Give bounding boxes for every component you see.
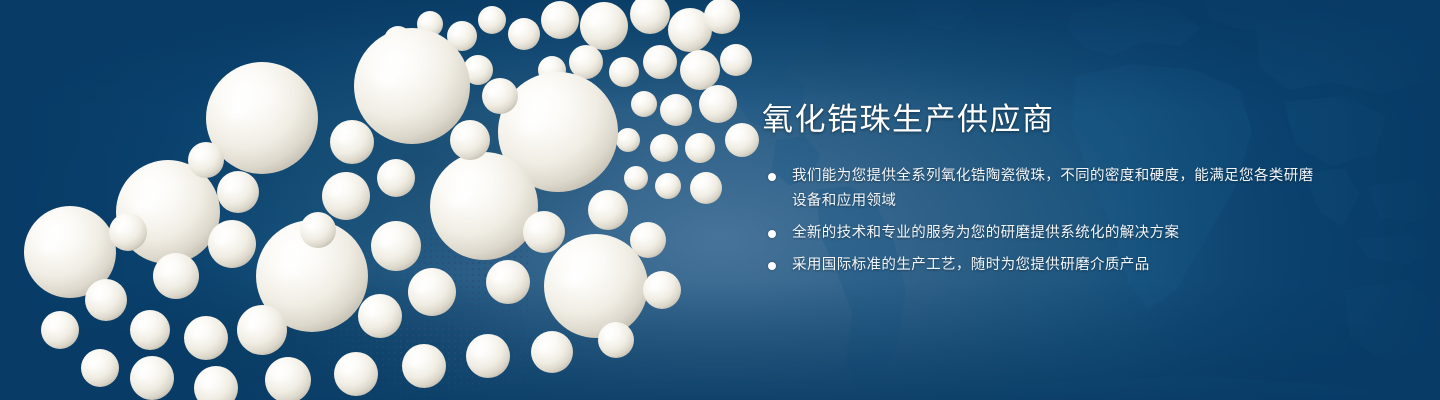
- feature-list: 我们能为您提供全系列氧化锆陶瓷微珠，不同的密度和硬度，能满足您各类研磨设备和应用…: [762, 164, 1322, 278]
- bullet-dot-icon: [768, 230, 776, 238]
- banner-copy: 氧化锆珠生产供应商 我们能为您提供全系列氧化锆陶瓷微珠，不同的密度和硬度，能满足…: [762, 100, 1322, 278]
- bullet-dot-icon: [768, 262, 776, 270]
- list-item-text: 我们能为您提供全系列氧化锆陶瓷微珠，不同的密度和硬度，能满足您各类研磨设备和应用…: [792, 168, 1314, 209]
- hero-banner: 氧化锆珠生产供应商 我们能为您提供全系列氧化锆陶瓷微珠，不同的密度和硬度，能满足…: [0, 0, 1440, 400]
- page-title: 氧化锆珠生产供应商: [762, 100, 1322, 140]
- list-item: 我们能为您提供全系列氧化锆陶瓷微珠，不同的密度和硬度，能满足您各类研磨设备和应用…: [762, 164, 1322, 214]
- list-item: 采用国际标准的生产工艺，随时为您提供研磨介质产品: [762, 253, 1322, 278]
- list-item-text: 采用国际标准的生产工艺，随时为您提供研磨介质产品: [792, 257, 1150, 273]
- bullet-dot-icon: [768, 173, 776, 181]
- list-item-text: 全新的技术和专业的服务为您的研磨提供系统化的解决方案: [792, 225, 1179, 241]
- list-item: 全新的技术和专业的服务为您的研磨提供系统化的解决方案: [762, 221, 1322, 246]
